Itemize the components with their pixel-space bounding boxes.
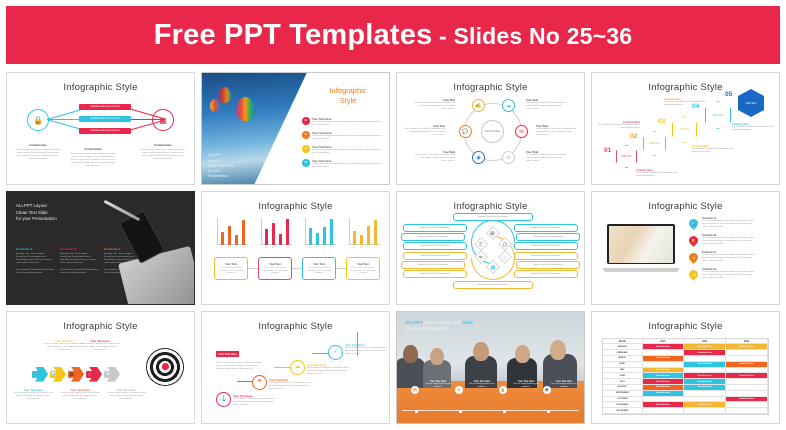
slide-title: Infographic Style (202, 201, 389, 212)
list-item-text: Your Text Here You can simply impress yo… (312, 131, 384, 141)
balloon-icon (218, 87, 231, 103)
bar-chart: A B C D (258, 218, 292, 248)
umbrella-icon: ☂ (252, 375, 267, 390)
pill-label: Simple PowerPoint Presentation (403, 252, 467, 260)
lock-icon: 🔒 (499, 386, 507, 394)
list-item-text: Your Text Here You can simply impress yo… (312, 145, 384, 155)
slide-thumbnail-12[interactable]: Infographic Style Month202020212022JANUA… (591, 311, 780, 424)
step-body: Get a modern PowerPoint Presentation tha… (307, 367, 351, 376)
connector (292, 268, 302, 269)
list-item: 02 Your Text Here You can simply impress… (302, 131, 384, 141)
bar (330, 219, 333, 245)
node-text: Your Text Get a modern PowerPoint Presen… (403, 125, 445, 137)
step-text: Content Here Get a modern PowerPoint Pre… (692, 145, 736, 154)
caption-block: Content Here You can simply impress your… (70, 147, 116, 168)
hand-icon: ✍ (472, 99, 485, 112)
caption-block: Content Here You can simply impress your… (140, 143, 186, 161)
hexagon-shape: Add Text (616, 145, 637, 168)
x-tick: D (374, 247, 375, 249)
step-text: Content Here Get a modern PowerPoint Pre… (596, 121, 640, 130)
timeline-node (459, 410, 462, 413)
banner-title-main: Free PPT Templates (154, 19, 433, 51)
slide-thumbnail-7[interactable]: Infographic Style 🖨 ☰ 💬 ⚒ 📄 🌐 Simple Pow… (396, 191, 585, 304)
item-body: You can simply impress your audience and… (702, 237, 758, 246)
item-text: Your Text Here You can simply impress yo… (549, 381, 579, 389)
card-heading: Your Text (313, 263, 325, 266)
node-text: Your Text Get a modern PowerPoint Presen… (413, 99, 455, 111)
x-tick: B (316, 247, 317, 249)
hexagon-shape: Add Text (705, 101, 731, 129)
bar (265, 229, 268, 245)
bar (221, 232, 224, 245)
connector (336, 268, 346, 269)
bar (353, 231, 356, 245)
pill-label: Simple PowerPoint Presentation (403, 270, 467, 278)
card-heading: Your Text (269, 263, 281, 266)
timeline-node (503, 410, 506, 413)
x-tick: B (360, 247, 361, 249)
intro-body: You can simply impress your audience and… (216, 362, 262, 371)
x-tick: D (242, 247, 243, 249)
step-number: 02 (302, 131, 310, 139)
item-body: You can simply impress your audience. (549, 383, 579, 388)
list-item-text: Contents C You can simply impress your a… (702, 251, 758, 263)
laptop-base (603, 268, 679, 272)
slide-thumbnail-5[interactable]: ALLPPT Layout Clean Text Slide for your … (6, 191, 195, 304)
step-text: Your Text Here You can simply impress yo… (12, 388, 54, 401)
slide-heading: ALLPPT Layout Clean Text Slide for your … (16, 203, 57, 222)
step-text: Your Text Here Get a modern PowerPoint P… (233, 394, 277, 407)
step-body: Get a modern PowerPoint Presentation tha… (732, 126, 776, 132)
target-icon (146, 348, 184, 386)
hexagon-shape: Add Text (672, 116, 697, 143)
step-body: You can simply impress your audience and… (59, 392, 101, 401)
y-axis (349, 218, 350, 245)
search-icon: 🔍 (687, 217, 700, 230)
bar-chart: A B C D (302, 218, 336, 248)
bar-chart: A B C D (346, 218, 380, 248)
step-body: Get a modern PowerPoint Presentation tha… (233, 398, 277, 407)
mail-icon: ✉ (515, 125, 528, 138)
step-body: Get a modern PowerPoint Presentation tha… (664, 101, 708, 107)
item-body: You can simply impress your audience and… (312, 135, 384, 141)
connector-line (125, 119, 165, 120)
content-column: Contents C Example Text : Get a modern P… (104, 247, 144, 275)
bar-chart: A B C D (214, 218, 248, 248)
step-body: You can simply impress your audience and… (12, 392, 54, 401)
center-label: Your Text Here (481, 120, 504, 143)
caption-body: You can simply impress your audience and… (140, 149, 186, 161)
x-tick: D (286, 247, 287, 249)
caption-block: Content Here You can simply impress your… (15, 143, 61, 161)
bar (286, 219, 289, 245)
card-body: Get a modern PowerPoint Presentation tha… (305, 267, 333, 275)
caption-line: Presentation (208, 174, 234, 179)
x-tick: A (221, 247, 222, 249)
node-text: Your Text Get a modern PowerPoint Presen… (526, 99, 568, 111)
step-text: Your Text Here You can simply impress yo… (105, 388, 147, 401)
item-body: You can simply impress your audience. (423, 383, 453, 388)
item-body: You can simply impress your audience. (467, 383, 497, 388)
heading-line-1: ALLPPT Layout Clean Text Slide (405, 320, 473, 327)
column-heading: Contents C (104, 247, 144, 251)
info-card: Your Text Get a modern PowerPoint Presen… (302, 257, 336, 280)
chat-icon: 💬 (459, 125, 472, 138)
slide-thumbnail-4[interactable]: Infographic Style 01 Add Text 02 Add Tex… (591, 72, 780, 185)
pill-label: Simple PowerPoint Presentation (514, 224, 578, 232)
step-text: Content Here Get a modern PowerPoint Pre… (732, 123, 776, 132)
column-body: Example Text : Get a modern PowerPoint P… (104, 253, 144, 265)
person-head (403, 345, 418, 363)
pen-image (104, 200, 140, 221)
person-head (550, 340, 566, 360)
step-number: 04 (302, 159, 310, 167)
x-tick: D (330, 247, 331, 249)
step-body: Get a modern PowerPoint Presentation tha… (269, 382, 313, 391)
item-body: You can simply impress your audience and… (312, 149, 384, 155)
item-body: You can simply impress your audience and… (312, 121, 384, 127)
step-body: Get a modern PowerPoint Presentation tha… (596, 124, 640, 130)
star-icon: ★ (687, 251, 700, 264)
timeline-rail (402, 410, 579, 411)
column-heading: Contents B (60, 247, 100, 251)
balloon-icon (236, 97, 255, 121)
info-card: Your Text Get a modern PowerPoint Presen… (346, 257, 380, 280)
node-body: Get a modern PowerPoint Presentation tha… (526, 102, 568, 111)
heading-line-2: Style (313, 96, 383, 106)
person-head (473, 342, 489, 361)
gear-icon: ⚙ (455, 386, 463, 394)
heading-accent: Slide (462, 320, 473, 325)
step-body: Get a modern PowerPoint Presentation tha… (692, 148, 736, 154)
step-body: Get a modern PowerPoint Presentation tha… (636, 172, 680, 178)
table-cell (684, 408, 726, 414)
slide-heading: Infographic Style (313, 86, 383, 106)
bar (360, 235, 363, 245)
y-axis (261, 218, 262, 245)
slide-title: Infographic Style (7, 82, 194, 93)
bar (323, 227, 326, 245)
card-body: Get a modern PowerPoint Presentation tha… (349, 267, 377, 275)
step-text: Your Text Here Get a modern PowerPoint P… (269, 378, 313, 391)
column-body-2: Get a modern PowerPoint Presentation tha… (104, 269, 144, 275)
slide-thumbnail-8[interactable]: Infographic Style 🔍 Contents A You can s… (591, 191, 780, 304)
card-body: Get a modern PowerPoint Presentation tha… (261, 267, 289, 275)
column-body-2: Get a modern PowerPoint Presentation tha… (16, 269, 56, 275)
bullseye (162, 363, 169, 370)
x-tick: A (265, 247, 266, 249)
pill-label: Simple PowerPoint Presentation (516, 261, 580, 269)
cloud-icon: ☁ (502, 99, 515, 112)
bar (367, 226, 370, 245)
pill-label: Simple PowerPoint Presentation (403, 242, 467, 250)
info-card: Your Text Get a modern PowerPoint Presen… (214, 257, 248, 280)
bar (272, 223, 275, 245)
page-root: Free PPT Templates - Slides No 25~36 Inf… (0, 0, 786, 430)
printer-icon: 🖨 (411, 386, 419, 394)
heading-line-1: Infographic (313, 86, 383, 96)
step-text: Your Text Here Get a modern PowerPoint P… (345, 343, 389, 356)
heading-mid: Layout Clean Text (423, 320, 462, 325)
list-item: 04 Your Text Here You can simply impress… (302, 159, 384, 169)
list-item-text: Contents A You can simply impress your a… (702, 217, 758, 229)
node-body: Get a modern PowerPoint Presentation tha… (413, 154, 455, 163)
slide-title: Infographic Style (397, 82, 584, 93)
pill-label: Simple PowerPoint Presentation (453, 213, 533, 221)
text-bar: Replaced with your own text (79, 116, 131, 122)
x-tick: A (309, 247, 310, 249)
column-heading: Contents A (16, 247, 56, 251)
target-icon: ◉ (472, 151, 485, 164)
cart-icon: 🛒 (86, 371, 94, 379)
column-body: Example Text : Get a modern PowerPoint P… (60, 253, 100, 265)
list-item-text: Contents D You can simply impress your a… (702, 268, 758, 280)
pill-label: Simple PowerPoint Presentation (514, 270, 578, 278)
node-text: Your Text Get a modern PowerPoint Presen… (413, 151, 455, 163)
step-text: Your Text Here Get a modern PowerPoint P… (307, 363, 351, 376)
step-body: Get a modern PowerPoint Presentation tha… (345, 347, 389, 356)
heading-line-3: for your Presentation (16, 216, 57, 222)
step-number: 02 (630, 133, 637, 140)
slide-title: Infographic Style (397, 201, 584, 212)
item-body: You can simply impress your audience and… (312, 163, 384, 169)
schedule-table: Month202020212022JANUARYSchedule HereSch… (602, 338, 769, 415)
slide-title: Infographic Style (202, 321, 389, 332)
item-body: You can simply impress your audience and… (702, 254, 758, 263)
pill-label: Simple PowerPoint Presentation (453, 281, 533, 289)
slide-thumbnail-3[interactable]: Infographic Style Your Text Here ✍ ☁ ✉ ⚙… (396, 72, 585, 185)
banner-title-sub: - Slides No 25~36 (432, 23, 632, 49)
column-body-2: Get a modern PowerPoint Presentation tha… (60, 269, 100, 275)
person-head (430, 348, 444, 365)
slide-thumbnail-6[interactable]: Infographic Style A B C D A (201, 191, 390, 304)
step-body: You can simply impress your audience and… (79, 343, 121, 352)
column-body: Example Text : Get a modern PowerPoint P… (16, 253, 56, 265)
bag-icon: 💼 (68, 371, 76, 379)
step-text: Content Here Get a modern PowerPoint Pre… (664, 98, 708, 107)
card-heading: Your Text (225, 263, 237, 266)
settings-icon: ⚙ (502, 151, 515, 164)
screen-photo (609, 226, 674, 263)
x-tick: A (353, 247, 354, 249)
page-title: Free PPT Templates - Slides No 25~36 (154, 19, 633, 52)
slide-title: Infographic Style (7, 321, 194, 332)
slide-title: Infographic Style (592, 321, 779, 332)
intro-block: Your Text Here You can simply impress yo… (216, 342, 262, 371)
pill-label: Simple PowerPoint Presentation (516, 233, 580, 241)
chart-icon: 📊 (50, 371, 58, 379)
hexagon-shape: Add Text (643, 131, 666, 156)
timeline-node (547, 410, 550, 413)
table-cell (726, 408, 768, 414)
x-tick: C (367, 247, 368, 249)
x-tick: C (323, 247, 324, 249)
item-body: You can simply impress your audience and… (702, 220, 758, 229)
pill-label: Simple PowerPoint Presentation (401, 261, 465, 269)
step-text: Your Text Here You can simply impress yo… (59, 388, 101, 401)
slide-caption: ALLPPT Layout Clean Text Slide for your … (208, 153, 234, 179)
slide-thumbnail-1[interactable]: Infographic Style 🔒 ▦ Replaced with your… (6, 72, 195, 185)
pill-label: Simple PowerPoint Presentation (403, 224, 467, 232)
status-badge: Your Text Here (216, 351, 239, 357)
cloud-icon: ☁ (687, 268, 700, 281)
node-body: Get a modern PowerPoint Presentation tha… (413, 102, 455, 111)
step-number: 03 (658, 118, 665, 125)
caption-heading: Content Here (15, 143, 61, 147)
balloon-icon (210, 99, 220, 112)
text-bar: Replaced with your own text (79, 128, 131, 134)
caption-heading: Content Here (140, 143, 186, 147)
laptop-image (603, 224, 679, 272)
caption-body: You can simply impress your audience and… (70, 153, 116, 168)
share-icon: 🔗 (32, 371, 40, 379)
item-text: Your Text Here You can simply impress yo… (467, 381, 497, 389)
pill-label: Simple PowerPoint Presentation (514, 242, 578, 250)
card-body: Get a modern PowerPoint Presentation tha… (217, 267, 245, 275)
step-text: Your Text Here You can simply impress yo… (79, 339, 121, 352)
step-number: 03 (302, 145, 310, 153)
check-icon: ✓ (328, 345, 343, 360)
table-row-label: DECEMBER (603, 408, 643, 414)
x-tick: C (279, 247, 280, 249)
bar (228, 226, 231, 245)
step-number: 01 (604, 147, 611, 154)
slide-thumbnail-11[interactable]: ALLPPT Layout Clean Text Slide for your … (396, 311, 585, 424)
bar (279, 234, 282, 245)
hexagon-shape: Add Text (738, 89, 764, 117)
content-column: Contents A Example Text : Get a modern P… (16, 247, 56, 275)
slide-title: Infographic Style (592, 201, 779, 212)
content-column: Contents B Example Text : Get a modern P… (60, 247, 100, 275)
info-card: Your Text Get a modern PowerPoint Presen… (258, 257, 292, 280)
banner-header: Free PPT Templates - Slides No 25~36 (6, 6, 780, 64)
node-body: Get a modern PowerPoint Presentation tha… (403, 128, 445, 137)
timeline-node (415, 410, 418, 413)
bar (309, 228, 312, 245)
bar (235, 235, 238, 245)
bar (374, 220, 377, 245)
x-tick: B (272, 247, 273, 249)
person-head (515, 345, 530, 363)
bar (316, 233, 319, 245)
list-item-text: Your Text Here You can simply impress yo… (312, 117, 384, 127)
node-body: Get a modern PowerPoint Presentation tha… (526, 154, 568, 163)
y-axis (217, 218, 218, 245)
heading-brand: ALLPPT (405, 320, 423, 325)
node-body: Get a modern PowerPoint Presentation tha… (536, 128, 578, 137)
list-item-text: Your Text Here You can simply impress yo… (312, 159, 384, 169)
connector (248, 268, 258, 269)
step-text: Content Here Get a modern PowerPoint Pre… (636, 169, 680, 178)
caption-body: You can simply impress your audience and… (15, 149, 61, 161)
slide-grid: Infographic Style 🔒 ▦ Replaced with your… (6, 72, 780, 424)
node-text: Your Text Get a modern PowerPoint Presen… (536, 125, 578, 137)
text-bar: Replaced with your own text (79, 104, 131, 110)
bulb-icon: 💡 (687, 234, 700, 247)
pill-label: Simple PowerPoint Presentation (401, 233, 465, 241)
slide-thumbnail-9[interactable]: Infographic Style 🔗 📊 💼 🛒 ⚑ Your Text He… (6, 311, 195, 424)
slide-heading: ALLPPT Layout Clean Text Slide for your … (405, 320, 473, 333)
card-heading: Your Text (357, 263, 369, 266)
lock-icon: 🔒 (27, 109, 49, 131)
laptop-screen (607, 224, 675, 264)
item-text: Your Text Here You can simply impress yo… (511, 381, 541, 389)
flag-icon: ⚑ (104, 371, 112, 379)
step-body: You can simply impress your audience and… (105, 392, 147, 401)
item-body: You can simply impress your audience. (511, 383, 541, 388)
x-tick: B (228, 247, 229, 249)
slide-thumbnail-10[interactable]: Infographic Style Your Text Here You can… (201, 311, 390, 424)
step-number: 01 (302, 117, 310, 125)
list-item: 03 Your Text Here You can simply impress… (302, 145, 384, 155)
y-axis (305, 218, 306, 245)
bar (242, 220, 245, 245)
list-item-text: Contents B You can simply impress your a… (702, 234, 758, 246)
caption-heading: Content Here (70, 147, 116, 151)
node-text: Your Text Get a modern PowerPoint Presen… (526, 151, 568, 163)
table-cell (643, 408, 685, 414)
cloud-icon: ☁ (290, 360, 305, 375)
item-body: You can simply impress your audience and… (702, 271, 758, 280)
list-item: 01 Your Text Here You can simply impress… (302, 117, 384, 127)
heading-line-2: for your Presentation (405, 326, 473, 333)
pill-label: Simple PowerPoint Presentation (514, 252, 578, 260)
x-tick: C (235, 247, 236, 249)
anchor-icon: ⚓ (216, 392, 231, 407)
item-text: Your Text Here You can simply impress yo… (423, 381, 453, 389)
slide-thumbnail-2[interactable]: ALLPPT Layout Clean Text Slide for your … (201, 72, 390, 185)
step-number: 05 (725, 91, 732, 98)
